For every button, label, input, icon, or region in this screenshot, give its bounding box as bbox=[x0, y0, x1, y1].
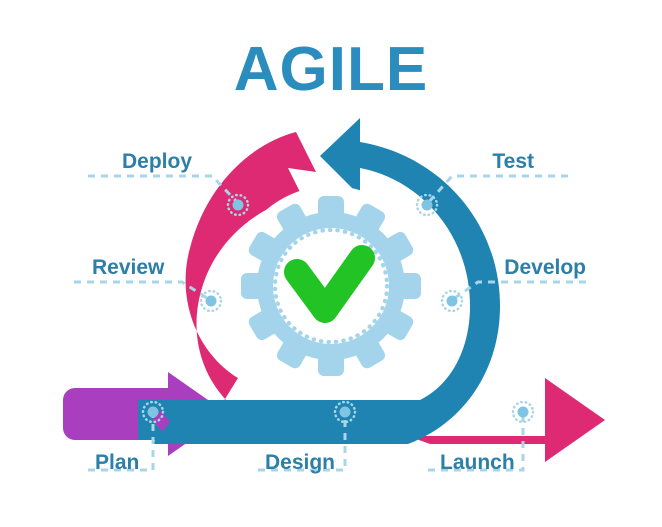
agile-infographic: AGILE bbox=[0, 0, 662, 527]
stage-label-develop: Develop bbox=[504, 256, 586, 279]
stage-label-deploy: Deploy bbox=[122, 150, 192, 173]
agile-diagram-svg: AGILE bbox=[0, 0, 662, 527]
stage-label-test: Test bbox=[492, 150, 534, 173]
page-title: AGILE bbox=[234, 35, 428, 104]
dot-review bbox=[201, 291, 221, 311]
stage-label-plan: Plan bbox=[95, 451, 139, 474]
stage-label-design: Design bbox=[265, 451, 335, 474]
stage-label-launch: Launch bbox=[440, 451, 515, 474]
stage-label-review: Review bbox=[92, 256, 165, 279]
dot-develop bbox=[442, 291, 462, 311]
